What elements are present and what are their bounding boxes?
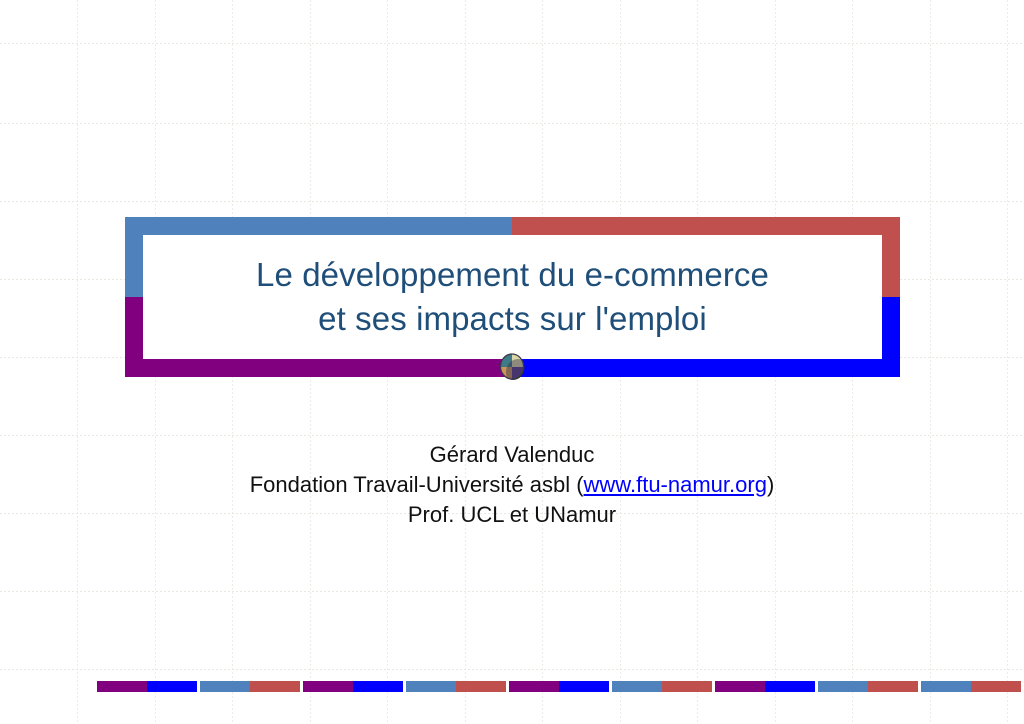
affiliation-prefix: Fondation Travail-Université asbl ( [250,472,584,497]
footer-bar-8-right [971,681,1021,692]
grid-line-vertical-11 [930,0,931,724]
footer-bar-0-left [97,681,147,692]
website-link[interactable]: www.ftu-namur.org [584,472,767,497]
footer-bar-4-right [559,681,609,692]
grid-line-horizontal-2 [0,201,1024,202]
footer-bar-5 [612,681,712,692]
footer-bar-3 [406,681,506,692]
author-name: Gérard Valenduc [0,440,1024,470]
author-position: Prof. UCL et UNamur [0,500,1024,530]
title-plate: Le développement du e-commerce et ses im… [143,235,882,359]
frame-border-top-right [512,217,900,235]
globe-icon [499,352,526,381]
footer-bar-0 [97,681,197,692]
footer-decoration [97,681,923,692]
footer-bar-8 [921,681,1021,692]
grid-line-horizontal-0 [0,43,1024,44]
grid-line-vertical-12 [1007,0,1008,724]
footer-bar-2 [303,681,403,692]
presentation-slide: Le développement du e-commerce et ses im… [0,0,1024,724]
slide-title: Le développement du e-commerce et ses im… [256,253,769,341]
grid-line-horizontal-7 [0,591,1024,592]
footer-bar-8-left [921,681,971,692]
frame-border-right-upper [882,217,900,297]
footer-bar-7-left [818,681,868,692]
footer-bar-4 [509,681,609,692]
footer-bar-6-right [765,681,815,692]
frame-border-left-upper [125,217,143,297]
footer-bar-7 [818,681,918,692]
footer-bar-6-left [715,681,765,692]
frame-border-bottom-right [512,359,900,377]
footer-bar-7-right [868,681,918,692]
footer-bar-6 [715,681,815,692]
footer-bar-5-right [662,681,712,692]
affiliation-line: Fondation Travail-Université asbl (www.f… [0,470,1024,500]
footer-bar-1-left [200,681,250,692]
footer-bar-3-left [406,681,456,692]
grid-line-horizontal-5 [0,435,1024,436]
footer-bar-0-right [147,681,197,692]
footer-bar-5-left [612,681,662,692]
footer-bar-3-right [456,681,506,692]
footer-bar-4-left [509,681,559,692]
grid-line-horizontal-1 [0,123,1024,124]
affiliation-suffix: ) [767,472,774,497]
subtitle-block: Gérard Valenduc Fondation Travail-Univer… [0,440,1024,530]
grid-line-vertical-0 [77,0,78,724]
frame-border-top-left [125,217,512,235]
grid-line-horizontal-8 [0,669,1024,670]
footer-bar-2-right [353,681,403,692]
footer-bar-2-left [303,681,353,692]
frame-border-bottom-left [125,359,512,377]
footer-bar-1-right [250,681,300,692]
footer-bar-1 [200,681,300,692]
